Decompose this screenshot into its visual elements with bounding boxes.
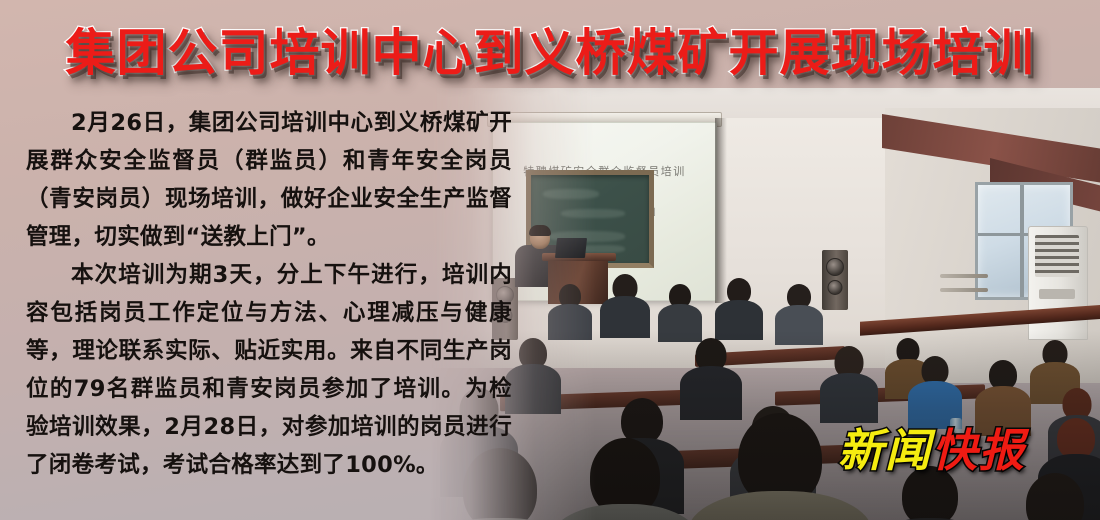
news-poster: 特聘煤矿安全群众监督员培训 济矿集团培训中心：陈利 电话：15898600500: [0, 0, 1100, 520]
article-body: 2月26日，集团公司培训中心到义桥煤矿开展群众安全监督员（群监员）和青年安全岗员…: [26, 104, 512, 484]
presenter-hair: [529, 225, 551, 236]
window-rail-upper: [940, 274, 988, 278]
news-logo-part-news: 新闻: [838, 424, 932, 477]
article-paragraph-2: 本次培训为期3天，分上下午进行，培训内容包括岗员工作定位与方法、心理减压与健康等…: [26, 256, 512, 484]
ac-display-panel: [1039, 289, 1075, 299]
attendee: [600, 274, 650, 336]
article-paragraph-1: 2月26日，集团公司培训中心到义桥煤矿开展群众安全监督员（群监员）和青年安全岗员…: [26, 104, 512, 256]
screen-shadow: [715, 118, 727, 303]
ac-vents: [1035, 235, 1079, 277]
wall-speaker-right: [822, 250, 848, 310]
window-rail-lower: [940, 288, 988, 292]
attendee: [715, 278, 763, 338]
news-flash-logo: 新闻快报: [838, 428, 1026, 473]
laptop: [555, 238, 587, 258]
news-logo-part-flash: 快报: [932, 424, 1026, 477]
page-title: 集团公司培训中心到义桥煤矿开展现场培训: [0, 28, 1100, 78]
